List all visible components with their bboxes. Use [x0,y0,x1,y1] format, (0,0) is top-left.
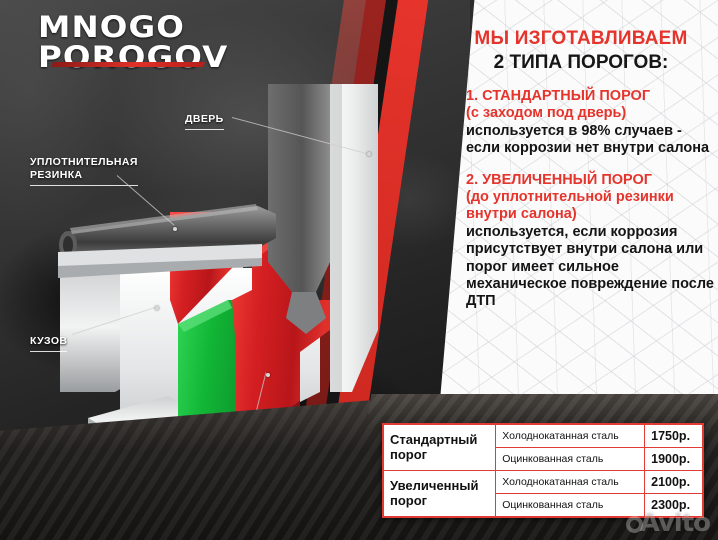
seal-end-bore [63,236,73,254]
paragraph-2-text: используется, если коррозия присутствует… [466,224,714,311]
price-row-3-price: 2300р. [645,494,703,518]
table-row: Увеличенный порог Холоднокатанная сталь … [383,471,703,494]
leader-dot-door [367,152,371,156]
headline-line-2: 2 ТИПА ПОРОГОВ: [452,52,710,74]
leader-dot-body [155,306,159,310]
description-block: 1. СТАНДАРТНЫЙ ПОРОГ (с заходом под двер… [466,88,714,325]
price-row-1-price: 1900р. [645,448,703,471]
poster-canvas: ДВЕРЬ УПЛОТНИТЕЛЬНАЯ РЕЗИНКА КУЗОВ СТАНД… [0,0,718,540]
price-table: Стандартный порог Холоднокатанная сталь … [382,423,704,518]
label-body-underline [30,351,67,352]
label-body: КУЗОВ [30,322,67,365]
door-inner-skin [268,84,330,292]
logo-underline-swoosh [51,62,206,67]
label-body-text: КУЗОВ [30,335,67,347]
table-row: Стандартный порог Холоднокатанная сталь … [383,424,703,448]
label-door: ДВЕРЬ [185,100,224,143]
label-door-text: ДВЕРЬ [185,113,224,125]
paragraph-1-subtitle: (с заходом под дверь) [466,105,714,122]
label-door-underline [185,129,224,130]
price-row-2-name: Увеличенный порог [383,471,496,518]
price-row-0-material: Холоднокатанная сталь [496,424,645,448]
paragraph-1-text: используется в 98% случаев - если корроз… [466,123,714,158]
paragraph-1-title: 1. СТАНДАРТНЫЙ ПОРОГ [466,88,714,105]
price-row-0-name: Стандартный порог [383,424,496,471]
headline: МЫ ИЗГОТАВЛИВАЕМ 2 ТИПА ПОРОГОВ: [452,28,710,74]
price-row-3-material: Оцинкованная сталь [496,494,645,518]
label-seal-text: УПЛОТНИТЕЛЬНАЯ РЕЗИНКА [30,156,138,181]
leader-dot-extended-sill [266,373,270,377]
label-seal-underline [30,185,138,186]
brand-logo[interactable]: MNOGO POROGOV [38,14,208,71]
price-row-1-material: Оцинкованная сталь [496,448,645,471]
price-row-0-price: 1750р. [645,424,703,448]
label-seal: УПЛОТНИТЕЛЬНАЯ РЕЗИНКА [30,143,138,200]
price-row-2-material: Холоднокатанная сталь [496,471,645,494]
paragraph-2: 2. УВЕЛИЧЕННЫЙ ПОРОГ (до уплотнительной … [466,172,714,311]
paragraph-1: 1. СТАНДАРТНЫЙ ПОРОГ (с заходом под двер… [466,88,714,158]
logo-line-1: MNOGO [38,14,228,42]
paragraph-2-subtitle: (до уплотнительной резинки внутри салона… [466,189,714,224]
leader-dot-seal [173,227,177,231]
paragraph-2-title: 2. УВЕЛИЧЕННЫЙ ПОРОГ [466,172,714,189]
door-skin-seam [330,84,342,392]
headline-line-1: МЫ ИЗГОТАВЛИВАЕМ [452,28,710,50]
price-row-2-price: 2100р. [645,471,703,494]
